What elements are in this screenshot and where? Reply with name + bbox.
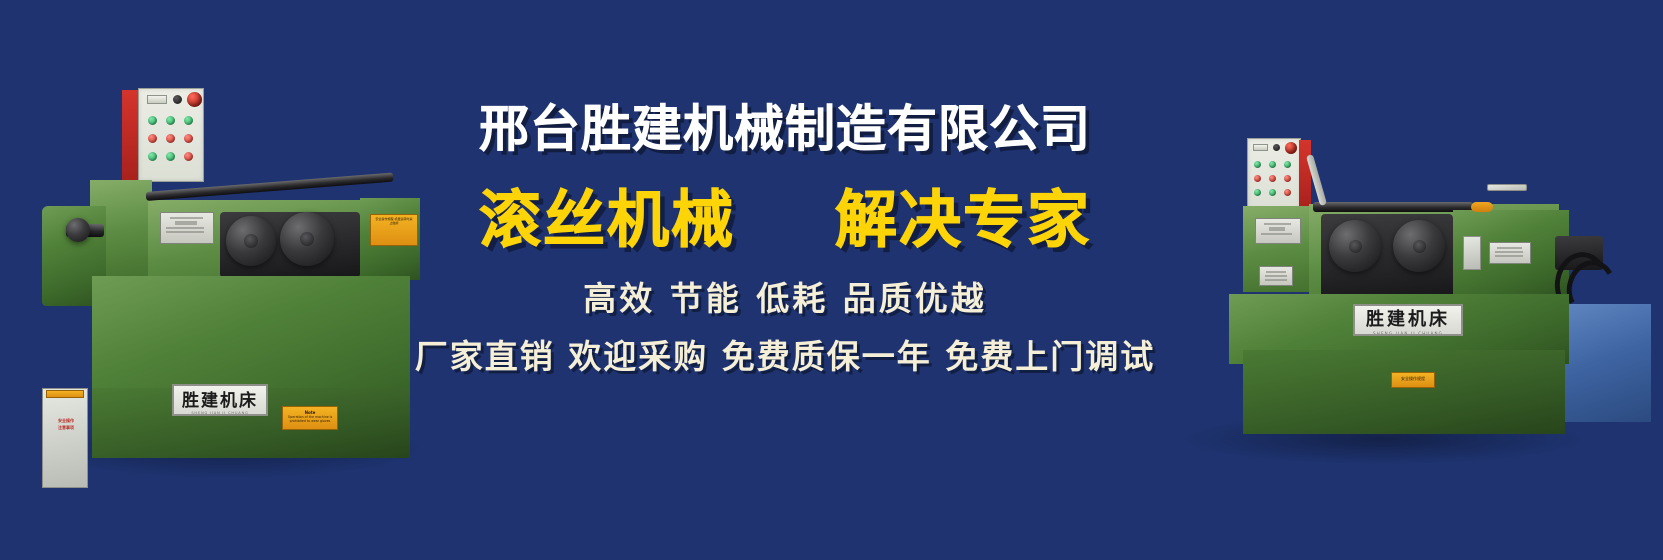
right-panel-red-side [1299,140,1311,210]
right-button-r1c2[interactable] [1269,161,1276,168]
slogan-right: 解决专家 [835,184,1091,256]
right-machine-nameplate: 胜建机床 SHENG JIAN JI CHUANG [1353,304,1463,336]
slogan-row: 滚丝机械 解决专家 [380,184,1190,256]
left-button-r3c2[interactable] [166,152,175,161]
right-top-fixture-plate [1487,184,1527,191]
promotional-banner: 安全操作规程 机器运转时禁止触摸 胜建机床 SHENG JIAN JI CHUA… [0,0,1663,560]
left-warning-body: Operation of the machine is prohibited t… [287,415,333,423]
left-nameplate-subtitle: SHENG JIAN JI CHUANG [191,411,248,415]
right-hydraulic-unit [1563,304,1651,422]
right-panel-selector-knob[interactable] [1273,144,1280,151]
left-cabinet-top-strip [46,390,84,398]
right-nameplate-subtitle: SHENG JIAN JI CHUANG [1373,331,1443,336]
feature-line: 高效 节能 低耗 品质优越 [380,278,1190,320]
left-button-r3c1[interactable] [148,152,157,161]
right-emergency-stop-button[interactable] [1285,142,1297,154]
left-end-roller [66,218,90,242]
left-button-r1c2[interactable] [166,116,175,125]
company-title: 邢台胜建机械制造有限公司 [380,100,1190,158]
right-panel-face [1247,138,1301,210]
banner-text-block: 邢台胜建机械制造有限公司 滚丝机械 解决专家 高效 节能 低耗 品质优越 厂家直… [380,100,1190,430]
left-button-r3c3[interactable] [184,152,193,161]
right-info-plate [1489,242,1531,264]
right-slide-block [1463,236,1481,270]
left-roller-hub-1 [244,234,258,248]
left-panel-selector-knob[interactable] [173,95,182,104]
service-line: 厂家直销 欢迎采购 免费质保一年 免费上门调试 [380,336,1190,378]
left-machine-nameplate: 胜建机床 SHENG JIAN JI CHUANG [172,384,268,416]
left-warning-note: Note Operation of the machine is prohibi… [282,406,338,430]
right-spec-plate-lower [1259,266,1293,286]
left-button-r1c1[interactable] [148,116,157,125]
right-top-cross-bar [1313,202,1473,212]
left-emergency-stop-button[interactable] [187,92,202,107]
left-roller-hub-2 [300,232,314,246]
right-button-r3c2[interactable] [1269,189,1276,196]
right-button-r3c3[interactable] [1284,189,1291,196]
right-base-warning-plate: 安全操作规程 [1391,372,1435,388]
right-roller-hub-1 [1349,240,1362,253]
right-button-r3c1[interactable] [1254,189,1261,196]
left-button-r2c1[interactable] [148,134,157,143]
left-button-r2c2[interactable] [166,134,175,143]
right-nameplate-title: 胜建机床 [1366,305,1450,331]
left-panel-face [138,88,204,182]
left-panel-display [147,95,167,104]
left-control-panel [122,88,204,184]
left-machine-image: 安全操作规程 机器运转时禁止触摸 胜建机床 SHENG JIAN JI CHUA… [30,88,430,468]
left-side-cabinet [42,388,88,488]
right-roller-hub-2 [1413,240,1426,253]
right-button-r2c1[interactable] [1254,175,1261,182]
right-button-r2c3[interactable] [1284,175,1291,182]
slogan-left: 滚丝机械 [479,184,735,256]
right-button-r1c1[interactable] [1254,161,1261,168]
left-cabinet-label: 安全操作 注意事项 [48,418,84,432]
left-button-r1c3[interactable] [184,116,193,125]
left-nameplate-title: 胜建机床 [182,386,258,411]
right-button-r2c2[interactable] [1269,175,1276,182]
left-cabinet-label-top: 安全操作 [58,418,74,423]
right-spec-plate-upper [1255,218,1301,244]
right-machine-base-front [1243,350,1565,434]
left-spec-plate [160,212,214,244]
right-button-r1c3[interactable] [1284,161,1291,168]
right-machine-image: 胜建机床 SHENG JIAN JI CHUANG 安全操作规程 [1163,118,1663,458]
right-base-warning-text: 安全操作规程 [1396,376,1430,381]
left-button-r2c3[interactable] [184,134,193,143]
right-panel-display [1253,144,1268,151]
left-cabinet-label-bottom: 注意事项 [58,425,74,430]
right-terminal-block-orange [1471,202,1493,212]
right-control-panel [1247,138,1313,210]
